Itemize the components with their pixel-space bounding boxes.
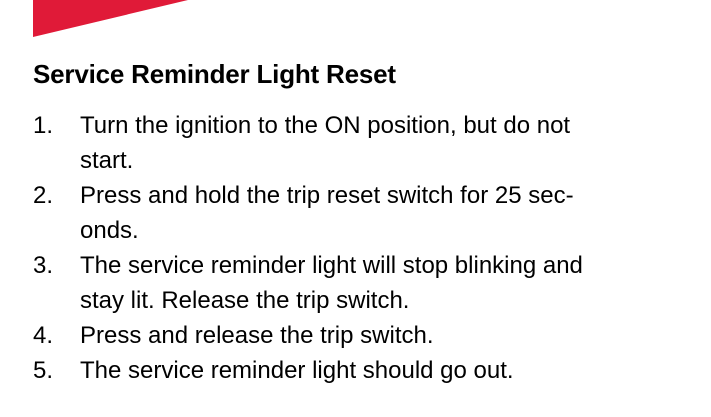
step-text: Press and hold the trip reset switch for…: [80, 178, 701, 248]
list-item: 3. The service reminder light will stop …: [33, 248, 701, 318]
step-number: 2.: [33, 178, 80, 213]
document-page: Service Reminder Light Reset 1. Turn the…: [0, 0, 711, 417]
list-item: 5. The service reminder light should go …: [33, 353, 701, 388]
red-angled-banner: [0, 0, 711, 40]
list-item: 2. Press and hold the trip reset switch …: [33, 178, 701, 248]
step-text: Press and release the trip switch.: [80, 318, 701, 353]
page-title: Service Reminder Light Reset: [33, 58, 396, 90]
step-text: The service reminder light will stop bli…: [80, 248, 701, 318]
list-item: 1. Turn the ignition to the ON position,…: [33, 108, 701, 178]
step-text: Turn the ignition to the ON position, bu…: [80, 108, 701, 178]
list-item: 4. Press and release the trip switch.: [33, 318, 701, 353]
step-number: 4.: [33, 318, 80, 353]
step-text: The service reminder light should go out…: [80, 353, 701, 388]
step-number: 3.: [33, 248, 80, 283]
step-number: 1.: [33, 108, 80, 143]
banner-shape: [33, 0, 188, 37]
procedure-step-list: 1. Turn the ignition to the ON position,…: [33, 108, 701, 388]
step-number: 5.: [33, 353, 80, 388]
